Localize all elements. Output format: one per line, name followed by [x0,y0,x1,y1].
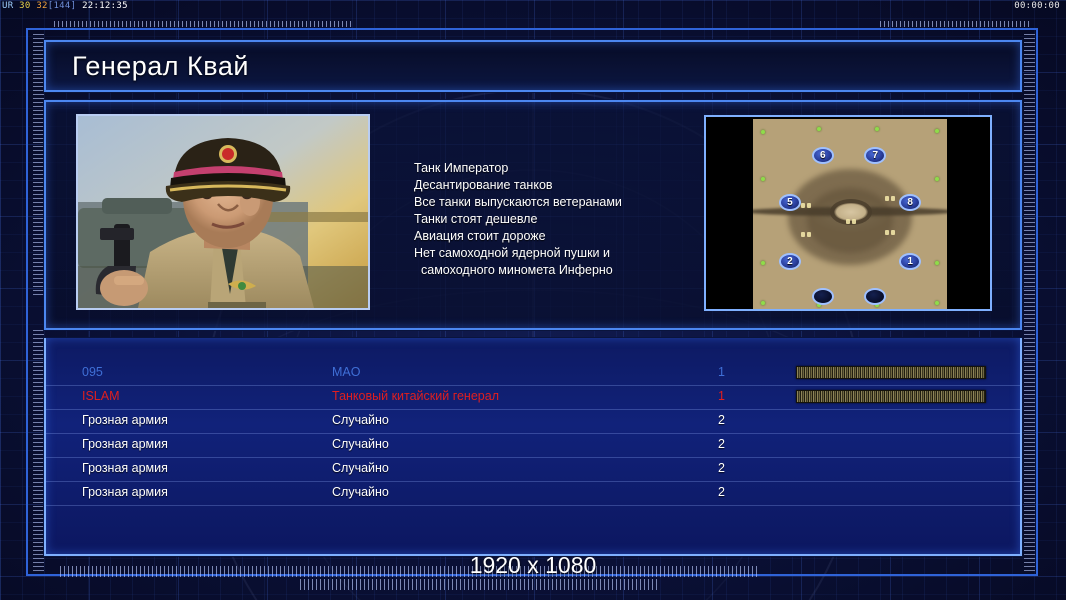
minimap-start-position-2[interactable]: 2 [779,253,801,270]
oil-derrick [885,196,889,201]
desc-line-2: Все танки выпускаются ветеранами [414,194,684,211]
progress-bar [796,366,986,379]
desc-line-3: Танки стоят дешевле [414,211,684,228]
cell-player-name: Грозная армия [82,413,168,427]
ruler-right-vertical [1024,34,1035,574]
game-lobby-screen: UR 30 32[144] 22:12:35 00:00:00 Генерал … [0,0,1066,600]
cell-team: 1 [718,365,725,379]
supply-point [935,261,939,265]
supply-point [875,127,879,131]
oil-derrick [891,196,895,201]
status-token-ur: UR [2,1,13,11]
ruler-top-horizontal-2 [880,21,1030,27]
cell-team: 2 [718,485,725,499]
table-row[interactable]: ISLAMТанковый китайский генерал1 [46,386,1020,410]
supply-point [761,261,765,265]
status-token-a: 30 [19,1,30,11]
supply-point [935,129,939,133]
frame-right [1036,28,1038,576]
oil-derrick [807,232,811,237]
cell-army: MAO [332,365,360,379]
supply-point [761,177,765,181]
ruler-bottom-horizontal-2 [300,579,660,590]
oil-derrick [891,230,895,235]
supply-point [817,127,821,131]
cell-team: 1 [718,389,725,403]
frame-left [26,28,28,576]
table-row[interactable]: Грозная армияСлучайно2 [46,458,1020,482]
player-list: 095MAO1ISLAMТанковый китайский генерал1Г… [46,362,1020,506]
minimap-start-position-empty[interactable] [812,288,834,305]
general-portrait [76,114,370,310]
progress-bar [796,390,986,403]
oil-derrick [885,230,889,235]
minimap[interactable]: 675821 [704,115,992,311]
cell-player-name: Грозная армия [82,437,168,451]
supply-point [761,301,765,305]
oil-derrick [846,219,850,224]
cell-team: 2 [718,413,725,427]
ruler-top-horizontal [54,21,354,27]
cell-team: 2 [718,461,725,475]
table-row[interactable]: Грозная армияСлучайно2 [46,410,1020,434]
oil-derrick [801,232,805,237]
cell-army: Случайно [332,485,389,499]
frame-top [26,28,1038,30]
status-clock-right: 00:00:00 [1014,0,1060,13]
minimap-terrain: 675821 [753,119,947,311]
supply-point [935,301,939,305]
desc-line-4: Авиация стоит дороже [414,228,684,245]
ruler-left-vertical [33,34,44,296]
table-row[interactable]: Грозная армияСлучайно2 [46,434,1020,458]
status-token-b: 32 [36,1,47,11]
cell-player-name: ISLAM [82,389,120,403]
minimap-start-position-empty[interactable] [864,288,886,305]
desc-line-0: Танк Император [414,160,684,177]
minimap-start-position-1[interactable]: 1 [899,253,921,270]
status-left: UR 30 32[144] 22:12:35 [2,0,128,13]
title-panel: Генерал Квай [44,40,1022,92]
page-title: Генерал Квай [72,51,249,82]
supply-point [935,177,939,181]
desc-line-6: самоходного миномета Инферно [414,262,684,279]
ruler-left-vertical-2 [33,330,44,574]
minimap-start-position-5[interactable]: 5 [779,194,801,211]
cell-team: 2 [718,437,725,451]
cell-army: Случайно [332,461,389,475]
cell-player-name: Грозная армия [82,461,168,475]
status-clock-left: 22:12:35 [82,1,128,11]
general-description: Танк Император Десантирование танков Все… [414,160,684,279]
status-token-c: [144] [48,1,77,11]
supply-point [761,130,765,134]
cell-army: Случайно [332,437,389,451]
status-topbar: UR 30 32[144] 22:12:35 00:00:00 [0,0,1066,13]
minimap-start-position-6[interactable]: 6 [812,147,834,164]
cell-player-name: 095 [82,365,103,379]
desc-line-5: Нет самоходной ядерной пушки и [414,245,684,262]
oil-derrick [807,203,811,208]
cell-player-name: Грозная армия [82,485,168,499]
table-row[interactable]: 095MAO1 [46,362,1020,386]
minimap-start-position-7[interactable]: 7 [864,147,886,164]
table-row[interactable]: Грозная армияСлучайно2 [46,482,1020,506]
desc-line-1: Десантирование танков [414,177,684,194]
cell-army: Танковый китайский генерал [332,389,499,403]
cell-army: Случайно [332,413,389,427]
resolution-label: 1920 x 1080 [0,552,1066,579]
oil-derrick [852,219,856,224]
minimap-start-position-8[interactable]: 8 [899,194,921,211]
